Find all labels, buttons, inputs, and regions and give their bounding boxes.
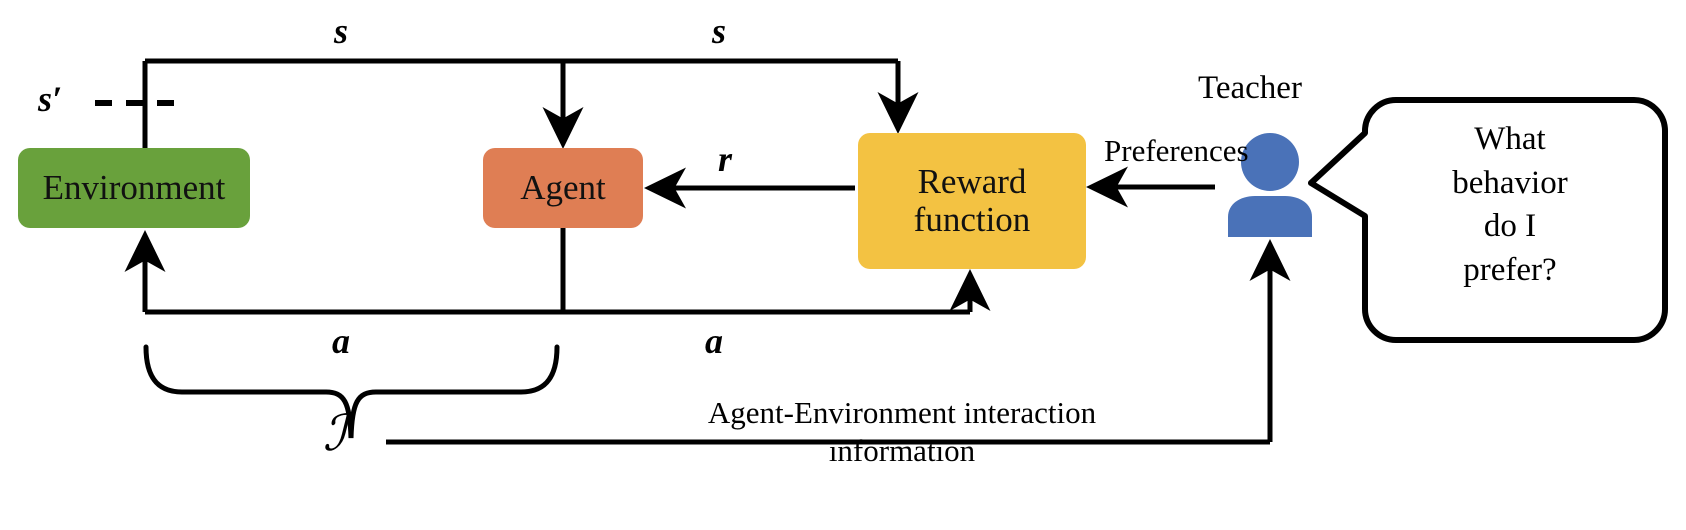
label-action-left: a (332, 320, 350, 362)
interaction-brace (146, 347, 557, 438)
label-interaction-symbol: ℐ (323, 404, 347, 462)
label-preferences: Preferences (1104, 133, 1249, 169)
label-state-top-right: s (712, 10, 726, 52)
diagram-canvas: Environment Agent Reward function s s s′… (0, 0, 1686, 530)
speech-bubble-line2: behavior (1372, 162, 1648, 206)
node-environment[interactable]: Environment (18, 148, 250, 228)
node-environment-label: Environment (43, 169, 226, 207)
label-next-state: s′ (38, 78, 62, 120)
label-interaction-information-line1: Agent-Environment interaction (646, 394, 1158, 432)
label-teacher: Teacher (1198, 70, 1302, 107)
node-agent-label: Agent (520, 169, 606, 207)
label-interaction-information: Agent-Environment interaction informatio… (646, 394, 1158, 470)
node-reward-function-label-line2: function (914, 201, 1031, 239)
label-reward-symbol: r (718, 138, 732, 180)
node-reward-function[interactable]: Reward function (858, 133, 1086, 269)
label-state-top-left: s (334, 10, 348, 52)
teacher-head-shape (1241, 133, 1299, 191)
speech-bubble-line3: do I (1372, 205, 1648, 249)
label-action-right: a (705, 320, 723, 362)
teacher-body-shape (1228, 196, 1312, 237)
speech-bubble-line4: prefer? (1372, 249, 1648, 293)
speech-bubble-text: What behavior do I prefer? (1372, 118, 1648, 292)
label-interaction-information-line2: information (646, 432, 1158, 470)
node-reward-function-label-line1: Reward (918, 163, 1027, 201)
speech-bubble-line1: What (1372, 118, 1648, 162)
node-agent[interactable]: Agent (483, 148, 643, 228)
